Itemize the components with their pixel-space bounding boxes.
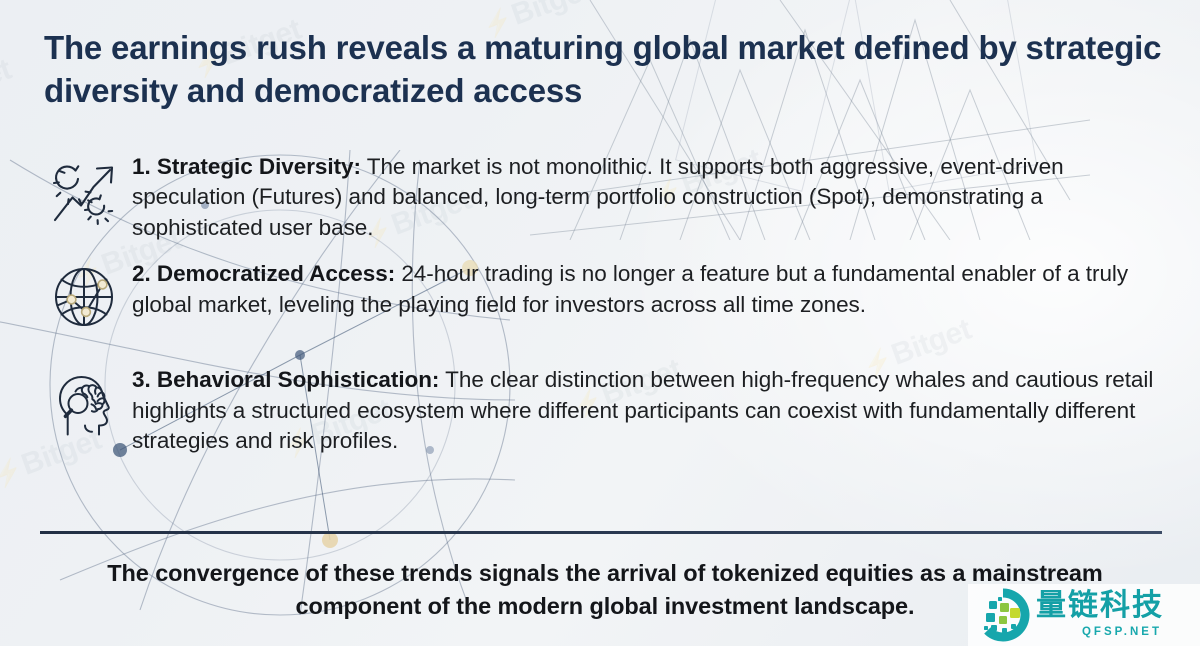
key-point-heading: 3. Behavioral Sophistication: [132, 367, 439, 392]
section-divider [40, 531, 1162, 534]
gears-growth-arrow-icon [36, 150, 132, 242]
globe-network-icon [36, 257, 132, 349]
brandmark-name: 量链科技 [1036, 591, 1164, 621]
key-point-item: 2. Democratized Access: 24-hour trading … [36, 257, 1166, 349]
key-point-item: 3. Behavioral Sophistication: The clear … [36, 363, 1166, 456]
key-point-text: 1. Strategic Diversity: The market is no… [132, 150, 1166, 243]
bitget-bolt-icon: ⚡ [769, 0, 806, 1]
slide-canvas: ⚡Bitget ⚡Bitget ⚡Bitget ⚡Bitget ⚡Bitget … [0, 0, 1200, 646]
key-point-heading: 2. Democratized Access: [132, 261, 395, 286]
brandmark-domain: QFSP.NET [1082, 627, 1162, 639]
slide-title: The earnings rush reveals a maturing glo… [44, 26, 1164, 112]
key-points-list: 1. Strategic Diversity: The market is no… [36, 150, 1166, 471]
key-point-heading: 1. Strategic Diversity: [132, 154, 361, 179]
key-point-text: 3. Behavioral Sophistication: The clear … [132, 363, 1166, 456]
watermark-text: Bitget [0, 52, 15, 111]
key-point-text: 2. Democratized Access: 24-hour trading … [132, 257, 1166, 320]
key-point-item: 1. Strategic Diversity: The market is no… [36, 150, 1166, 243]
bitget-bolt-icon: ⚡ [0, 456, 26, 491]
head-brain-magnifier-icon [36, 363, 132, 455]
site-brandmark-watermark: 量链科技 QFSP.NET [968, 584, 1200, 646]
qfsp-logo-icon [976, 588, 1030, 642]
